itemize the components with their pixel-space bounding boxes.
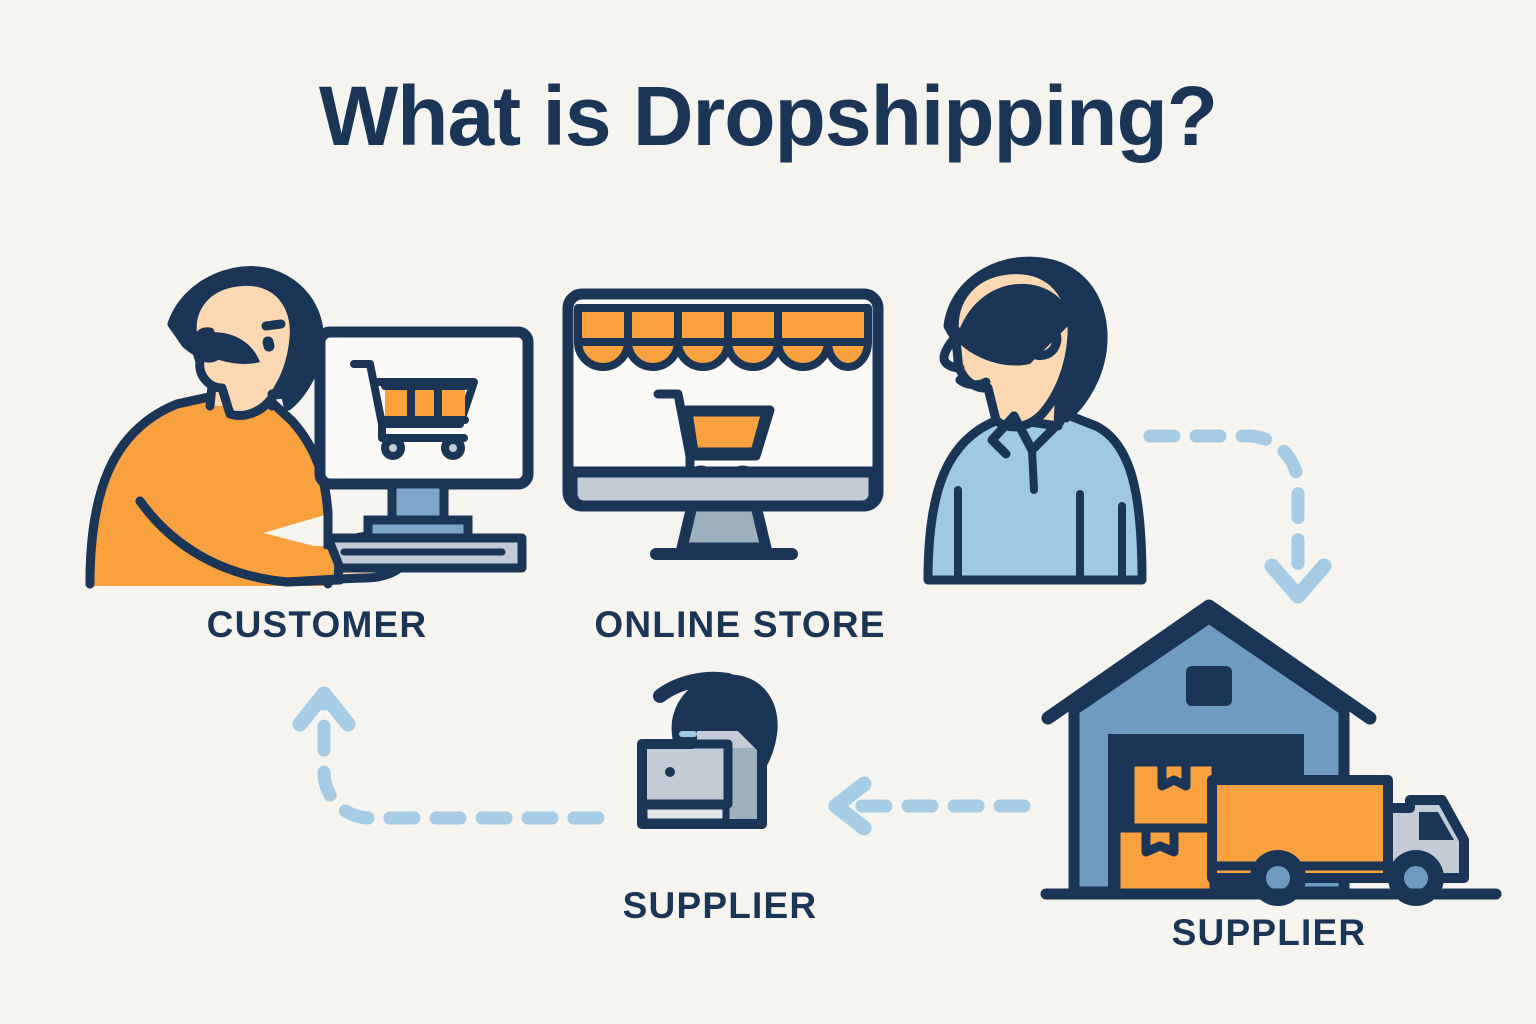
- customer-at-computer-icon: [82, 246, 552, 591]
- node-supplier-box: [630, 672, 810, 862]
- label-supplier-depot: SUPPLIER: [1034, 912, 1504, 954]
- warehouse-truck-icon: [1034, 610, 1504, 910]
- label-supplier-box: SUPPLIER: [560, 885, 880, 927]
- retailer-person-icon: [910, 244, 1160, 584]
- awning-icon: [578, 308, 868, 367]
- customer-monitor-icon: [320, 332, 528, 568]
- boxes-icon: [1116, 762, 1216, 894]
- page-title: What is Dropshipping?: [0, 72, 1536, 160]
- node-online-store: [560, 286, 900, 586]
- arrow-supplier-to-customer: [288, 678, 608, 838]
- label-online-store: ONLINE STORE: [540, 604, 940, 646]
- node-customer: [82, 246, 552, 591]
- supplier-package-icon: [630, 672, 810, 862]
- label-customer: CUSTOMER: [82, 604, 552, 646]
- store-monitor-icon: [560, 286, 900, 586]
- node-supplier-depot: [1034, 610, 1504, 910]
- arrow-retailer-to-warehouse: [1140, 406, 1340, 616]
- infographic-canvas: What is Dropshipping?: [0, 0, 1536, 1024]
- node-retailer: [910, 244, 1160, 584]
- arrow-warehouse-to-supplier: [824, 778, 1034, 834]
